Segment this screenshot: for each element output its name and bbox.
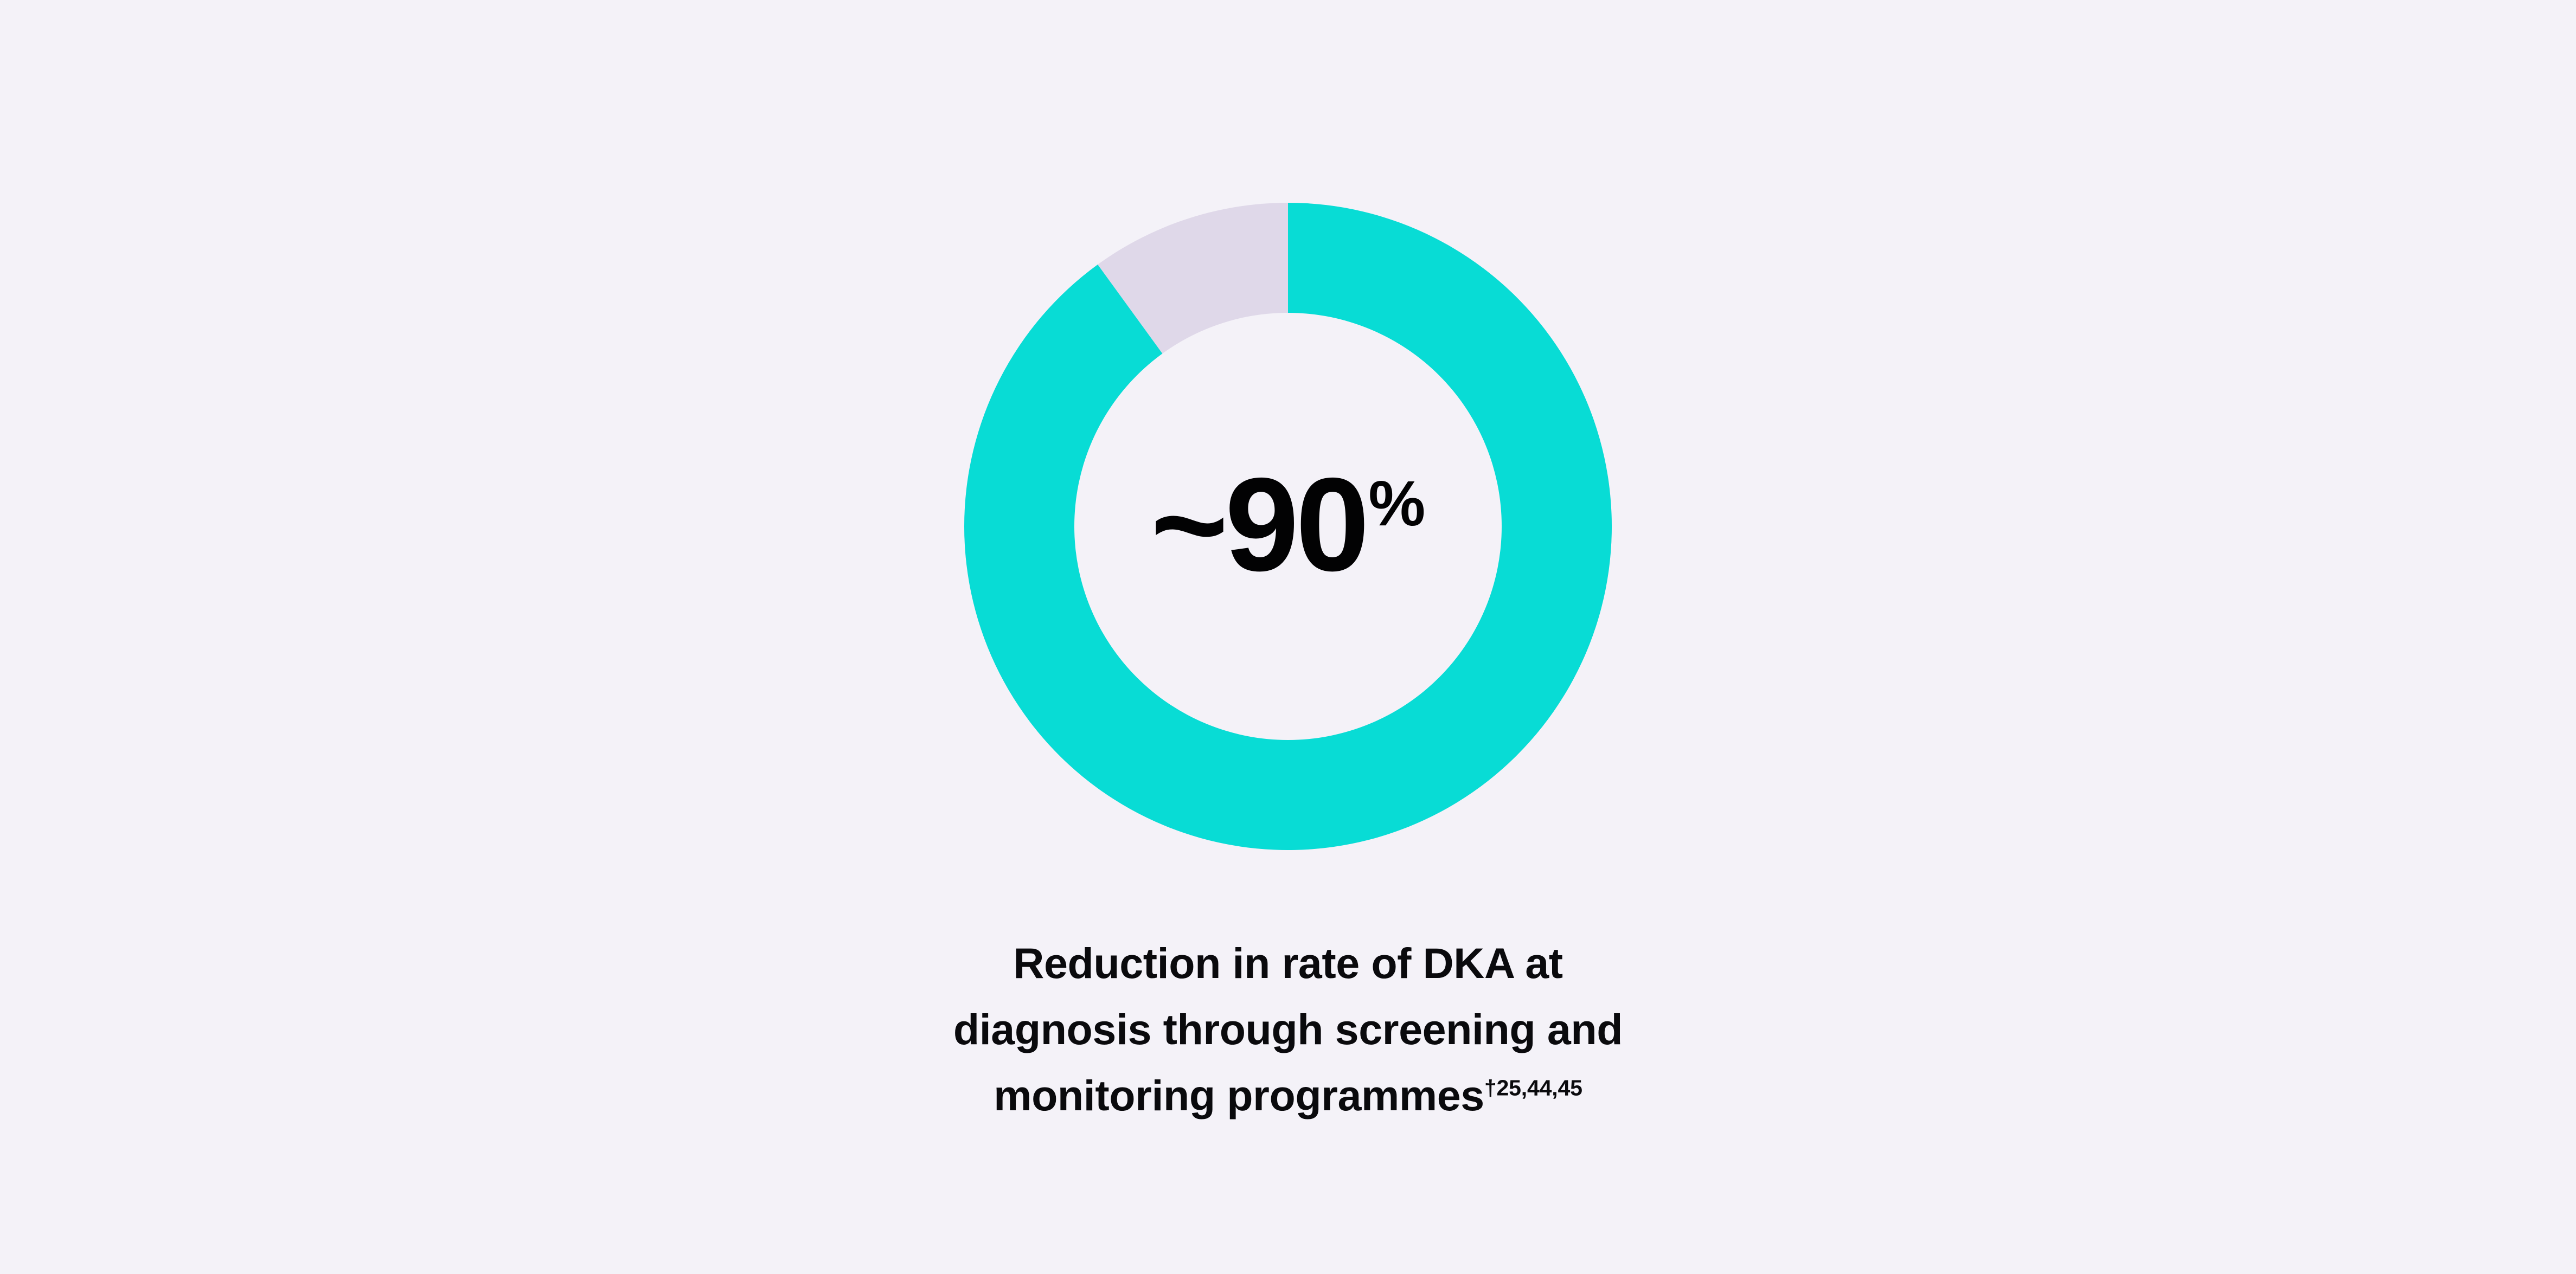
- caption-line-3-text: monitoring programmes: [994, 1071, 1484, 1119]
- donut-hole: [1074, 313, 1502, 740]
- donut-chart-svg: [964, 203, 1612, 850]
- donut-chart: [964, 203, 1612, 850]
- caption-line-1: Reduction in rate of DKA at: [746, 930, 1830, 996]
- caption-line-2: diagnosis through screening and: [746, 996, 1830, 1063]
- infographic-stage: ~90 % Reduction in rate of DKA at diagno…: [0, 0, 2576, 1274]
- caption-reference-superscript: †25,44,45: [1484, 1076, 1582, 1101]
- chart-caption: Reduction in rate of DKA at diagnosis th…: [746, 930, 1830, 1129]
- caption-line-3: monitoring programmes†25,44,45: [746, 1063, 1830, 1129]
